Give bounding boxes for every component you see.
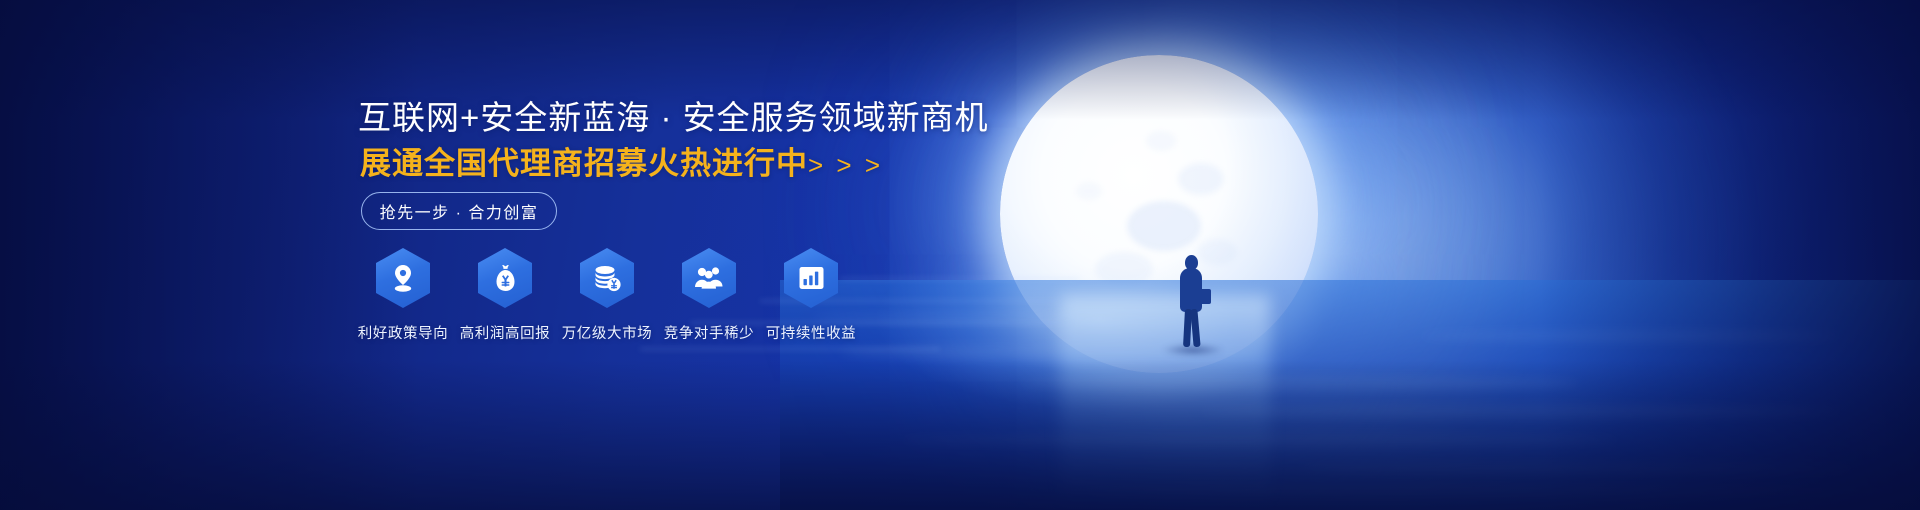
- feature-list: 利好政策导向 高利润高回报: [352, 248, 862, 343]
- banner-subheadline: 展通全国代理商招募火热进行中> > >: [360, 145, 883, 182]
- subheadline-text: 展通全国代理商招募火热进行中: [360, 146, 808, 181]
- feature-item-policy[interactable]: 利好政策导向: [352, 248, 454, 343]
- feature-label: 万亿级大市场: [562, 322, 653, 343]
- feature-item-sustainable[interactable]: 可持续性收益: [760, 248, 862, 343]
- people-group-icon: [682, 248, 736, 308]
- coin-stack-yen-icon: [580, 248, 634, 308]
- feature-label: 竞争对手稀少: [664, 322, 755, 343]
- promo-banner: 互联网+安全新蓝海 · 安全服务领域新商机 展通全国代理商招募火热进行中> > …: [0, 0, 1920, 510]
- feature-item-competition[interactable]: 竞争对手稀少: [658, 248, 760, 343]
- feature-label: 高利润高回报: [460, 322, 551, 343]
- cta-pill-button[interactable]: 抢先一步 · 合力创富: [361, 192, 557, 230]
- location-pin-icon: [376, 248, 430, 308]
- feature-item-market[interactable]: 万亿级大市场: [556, 248, 658, 343]
- banner-headline: 互联网+安全新蓝海 · 安全服务领域新商机: [358, 98, 989, 138]
- banner-content: 互联网+安全新蓝海 · 安全服务领域新商机 展通全国代理商招募火热进行中> > …: [0, 0, 1920, 510]
- money-bag-yen-icon: [478, 248, 532, 308]
- feature-label: 利好政策导向: [358, 322, 449, 343]
- bar-chart-growth-icon: [784, 248, 838, 308]
- cta-pill-label: 抢先一步 · 合力创富: [380, 199, 539, 223]
- feature-label: 可持续性收益: [766, 322, 857, 343]
- feature-item-profit[interactable]: 高利润高回报: [454, 248, 556, 343]
- arrows-indicator: > > >: [808, 150, 883, 180]
